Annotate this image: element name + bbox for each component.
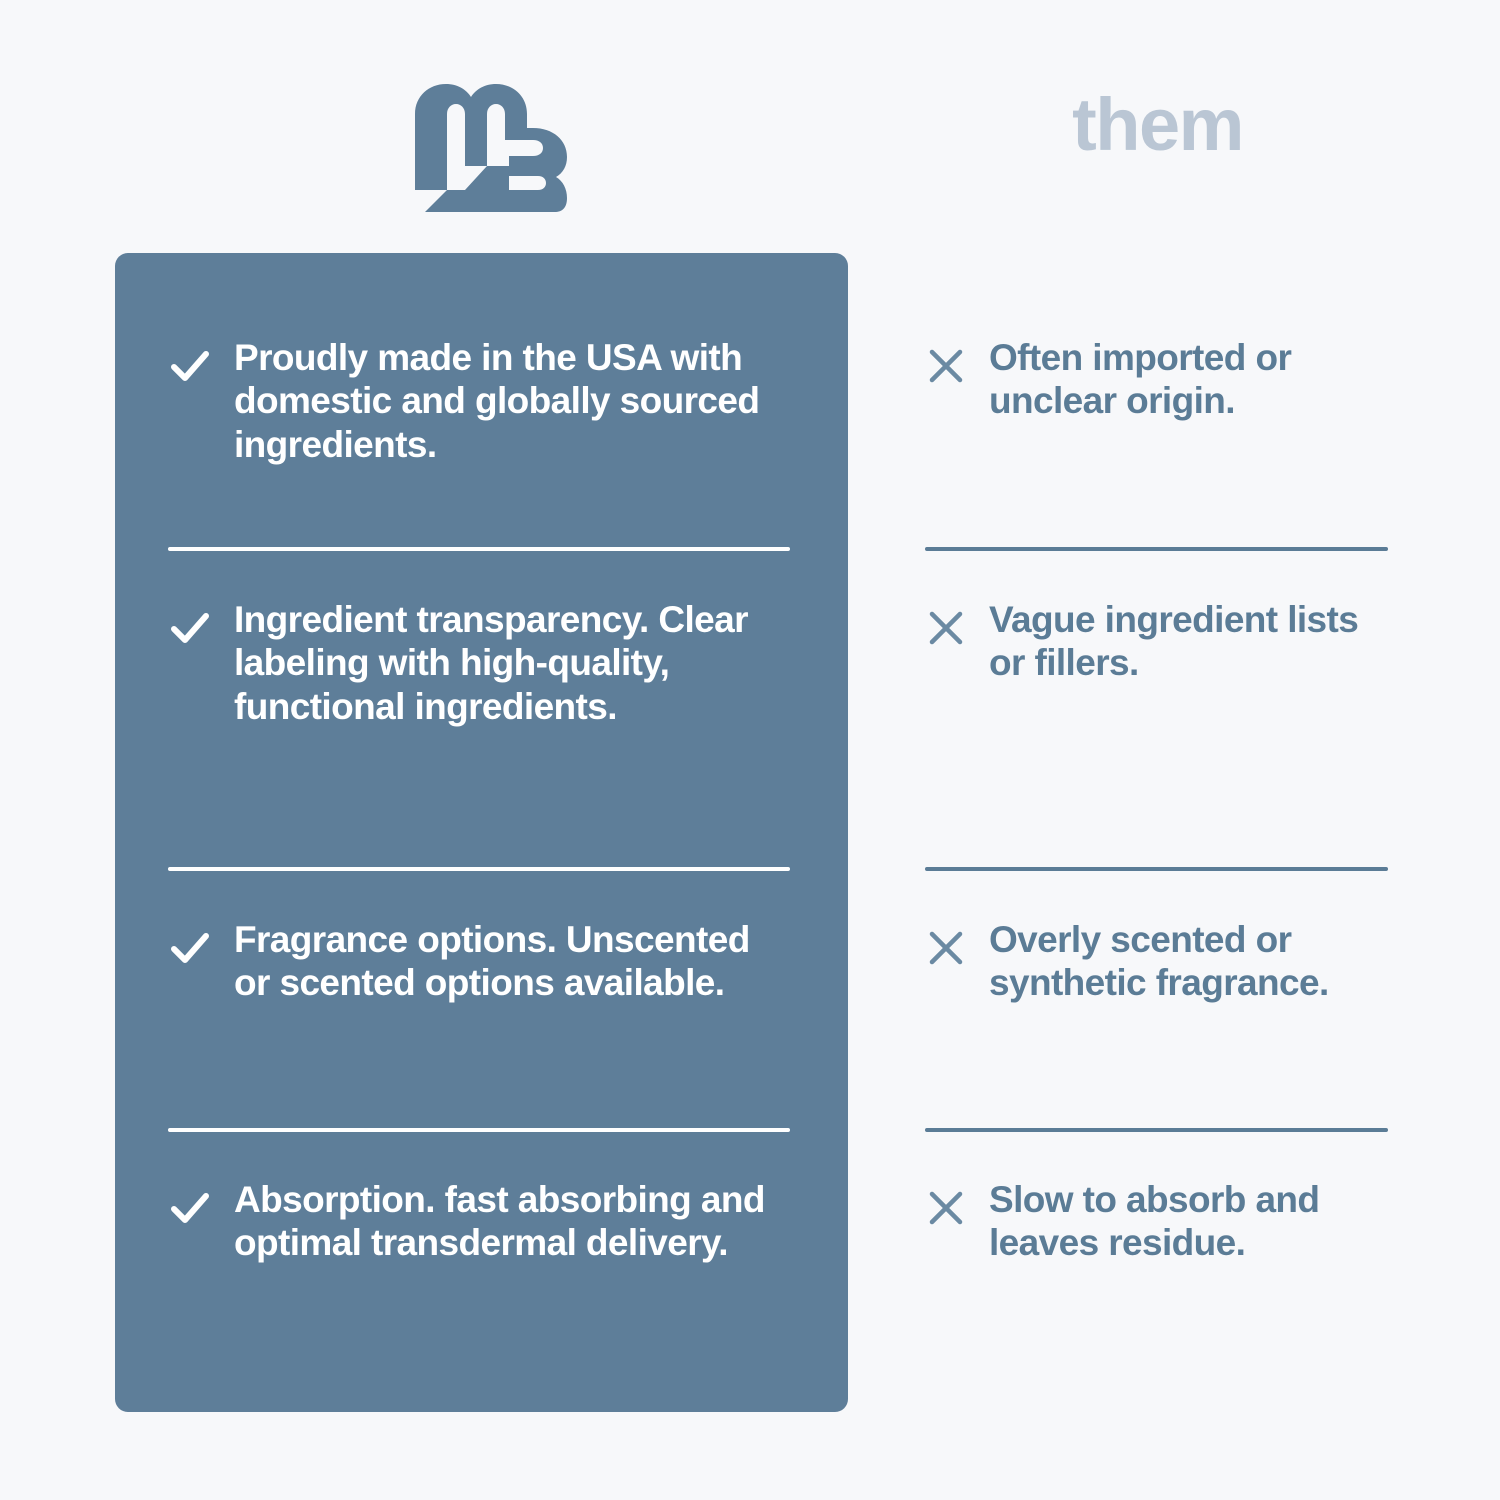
- x-icon: [925, 927, 967, 969]
- divider: [925, 547, 1388, 551]
- list-item: Absorption. fast absorbing and optimal t…: [168, 1178, 795, 1265]
- x-icon: [925, 345, 967, 387]
- list-item-label: Ingredient transparency. Clear labeling …: [234, 598, 795, 728]
- check-icon: [168, 606, 212, 650]
- list-item-label: Vague ingredient lists or fillers.: [989, 598, 1390, 685]
- divider: [925, 1128, 1388, 1132]
- list-item-label: Often imported or unclear origin.: [989, 336, 1390, 423]
- divider: [168, 1128, 790, 1132]
- brand-benefits-panel: Proudly made in the USA with domestic an…: [115, 253, 848, 1412]
- check-icon: [168, 1186, 212, 1230]
- list-item-label: Proudly made in the USA with domestic an…: [234, 336, 795, 466]
- list-item: Proudly made in the USA with domestic an…: [168, 336, 795, 466]
- list-item: Often imported or unclear origin.: [925, 336, 1390, 423]
- list-item: Ingredient transparency. Clear labeling …: [168, 598, 795, 728]
- header: them: [0, 0, 1500, 253]
- check-icon: [168, 344, 212, 388]
- divider: [925, 867, 1388, 871]
- divider: [168, 547, 790, 551]
- x-icon: [925, 607, 967, 649]
- check-icon: [168, 926, 212, 970]
- list-item-label: Fragrance options. Unscented or scented …: [234, 918, 795, 1005]
- list-item-label: Overly scented or synthetic fragrance.: [989, 918, 1390, 1005]
- brand-benefits-list: Proudly made in the USA with domestic an…: [168, 253, 795, 1412]
- them-heading: them: [925, 88, 1390, 162]
- list-item: Vague ingredient lists or fillers.: [925, 598, 1390, 685]
- x-icon: [925, 1187, 967, 1229]
- them-drawbacks-column: Often imported or unclear origin. Vague …: [925, 253, 1390, 1412]
- list-item-label: Absorption. fast absorbing and optimal t…: [234, 1178, 795, 1265]
- mb-monogram-logo: [405, 78, 570, 218]
- comparison-columns: Proudly made in the USA with domestic an…: [0, 253, 1500, 1413]
- comparison-infographic: them Proudly made in the USA with domest…: [0, 0, 1500, 1500]
- divider: [168, 867, 790, 871]
- list-item-label: Slow to absorb and leaves residue.: [989, 1178, 1390, 1265]
- list-item: Overly scented or synthetic fragrance.: [925, 918, 1390, 1005]
- list-item: Fragrance options. Unscented or scented …: [168, 918, 795, 1005]
- list-item: Slow to absorb and leaves residue.: [925, 1178, 1390, 1265]
